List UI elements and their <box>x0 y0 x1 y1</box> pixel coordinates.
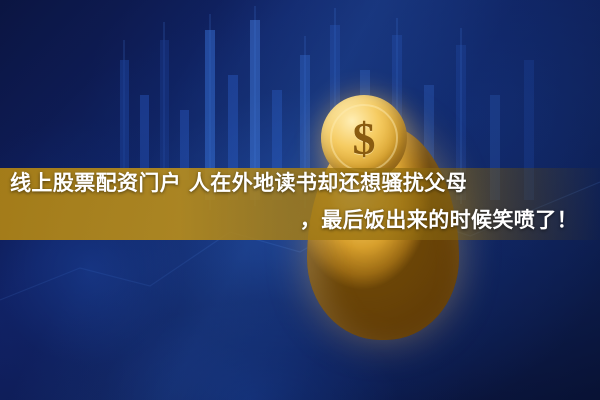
bottom-glow <box>40 260 460 400</box>
left-glow <box>0 120 240 400</box>
headline-text: 线上股票配资门户 人在外地读书却还想骚扰父母 ，最后饭出来的时候笑喷了！ <box>0 165 600 239</box>
banner-image: $ 线上股票配资门户 人在外地读书却还想骚扰父母 ，最后饭出来的时候笑喷了！ <box>0 0 600 400</box>
headline-line-1: 线上股票配资门户 人在外地读书却还想骚扰父母 <box>10 165 590 202</box>
headline-line-2: ，最后饭出来的时候笑喷了！ <box>10 202 590 239</box>
